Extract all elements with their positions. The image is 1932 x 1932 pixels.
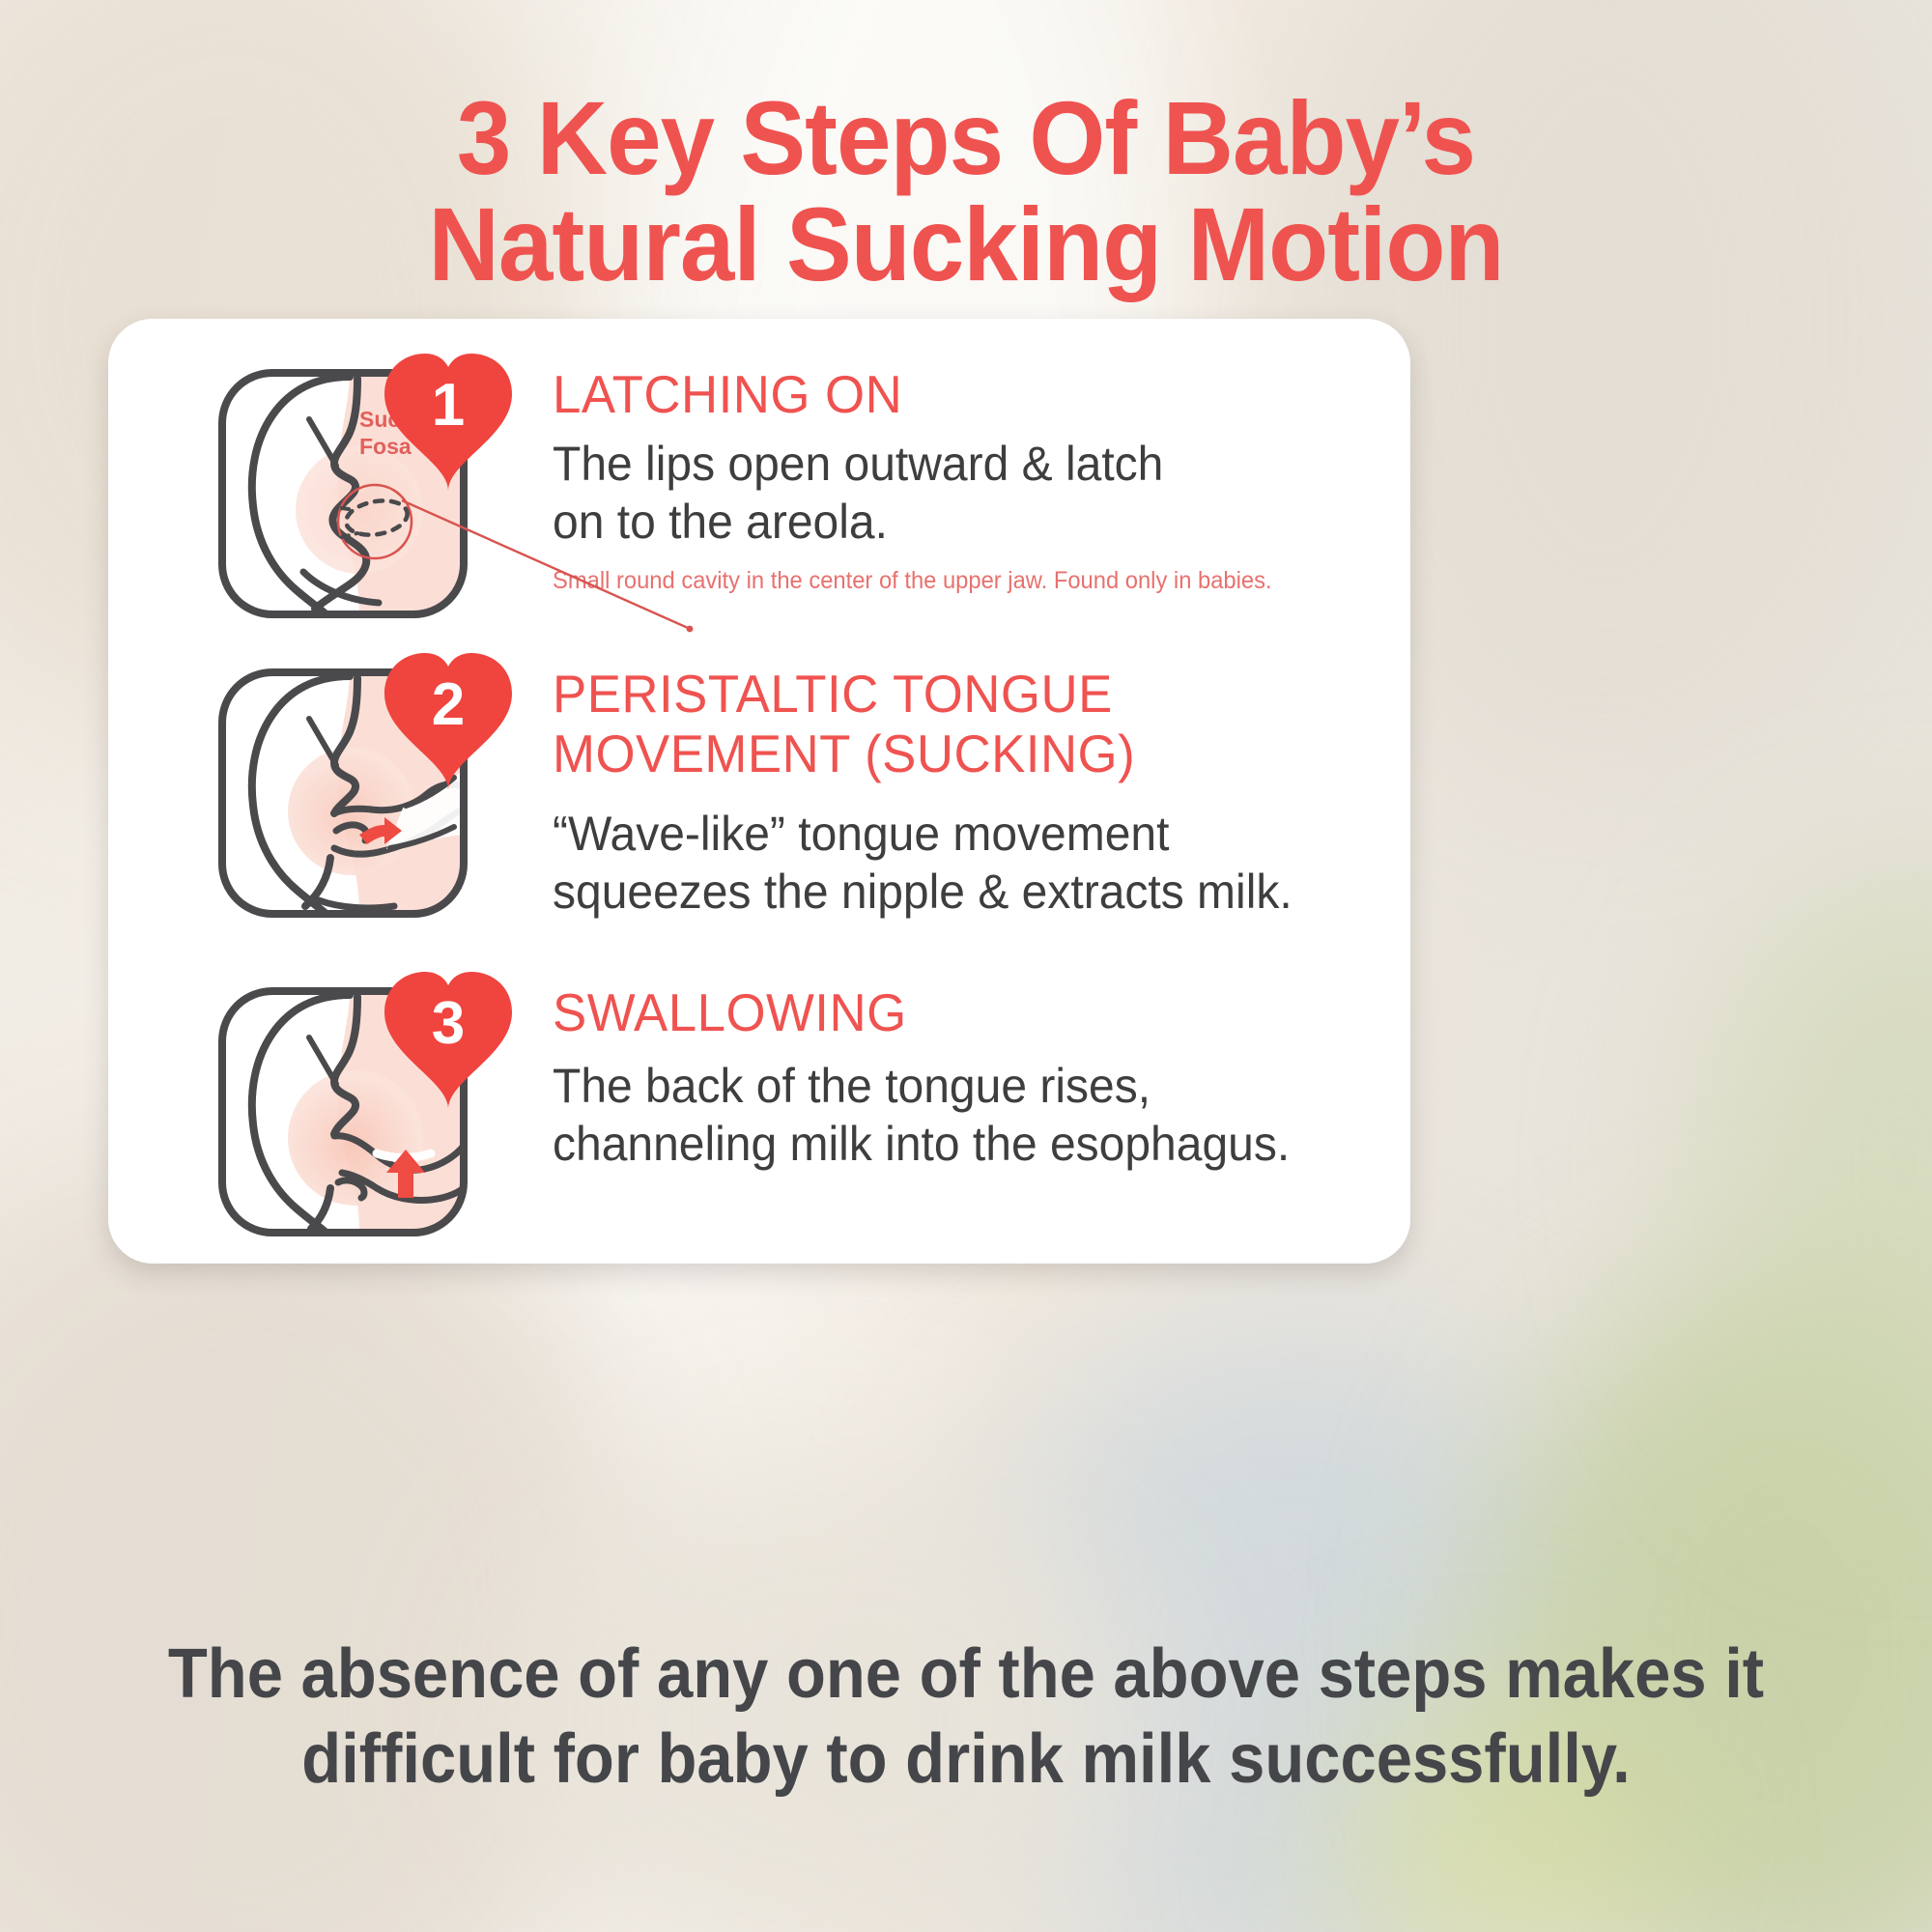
step-2-heading: PERISTALTIC TONGUE MOVEMENT (SUCKING) bbox=[553, 665, 1387, 783]
step-2-body-line1: “Wave-like” tongue movement bbox=[553, 805, 1387, 863]
footer-line2: difficult for baby to drink milk success… bbox=[68, 1718, 1864, 1803]
step-2-text: PERISTALTIC TONGUE MOVEMENT (SUCKING) “W… bbox=[553, 665, 1422, 921]
step-1-text: LATCHING ON The lips open outward & latc… bbox=[553, 365, 1393, 595]
step-1-body-line1: The lips open outward & latch bbox=[553, 435, 1359, 493]
step-3-heading: SWALLOWING bbox=[553, 983, 1387, 1043]
footer-line1: The absence of any one of the above step… bbox=[68, 1633, 1864, 1718]
step-1-body-line2: on to the areola. bbox=[553, 493, 1359, 551]
step-3-body: The back of the tongue rises, channeling… bbox=[553, 1057, 1387, 1173]
step-number-1: 1 bbox=[371, 371, 526, 440]
step-1-caption: Small round cavity in the center of the … bbox=[553, 566, 1351, 595]
step-3-body-line2: channeling milk into the esophagus. bbox=[553, 1115, 1387, 1173]
step-3-text: SWALLOWING The back of the tongue rises,… bbox=[553, 983, 1422, 1173]
step-number-3: 3 bbox=[371, 989, 526, 1058]
step-2-heading-line2: (SUCKING) bbox=[865, 724, 1135, 783]
step-number-2: 2 bbox=[371, 670, 526, 739]
step-1-figure-wrap: Sucking Fosa 1 bbox=[214, 365, 495, 628]
step-2-body-line2: squeezes the nipple & extracts milk. bbox=[553, 863, 1387, 921]
steps-card: Sucking Fosa 1 LATCHING ON The lips open… bbox=[108, 319, 1410, 1264]
step-2-figure-wrap: 2 bbox=[214, 665, 495, 927]
step-3-figure-wrap: 3 bbox=[214, 983, 495, 1246]
page-title-line2: Natural Sucking Motion bbox=[58, 191, 1874, 298]
step-3-body-line1: The back of the tongue rises, bbox=[553, 1057, 1387, 1115]
step-2-body: “Wave-like” tongue movement squeezes the… bbox=[553, 805, 1387, 921]
step-1-body: The lips open outward & latch on to the … bbox=[553, 435, 1359, 551]
footer-note: The absence of any one of the above step… bbox=[68, 1633, 1864, 1803]
page-title-line1: 3 Key Steps Of Baby’s bbox=[457, 79, 1475, 196]
page-title: 3 Key Steps Of Baby’s Natural Sucking Mo… bbox=[58, 85, 1874, 298]
step-1-heading: LATCHING ON bbox=[553, 365, 1359, 425]
